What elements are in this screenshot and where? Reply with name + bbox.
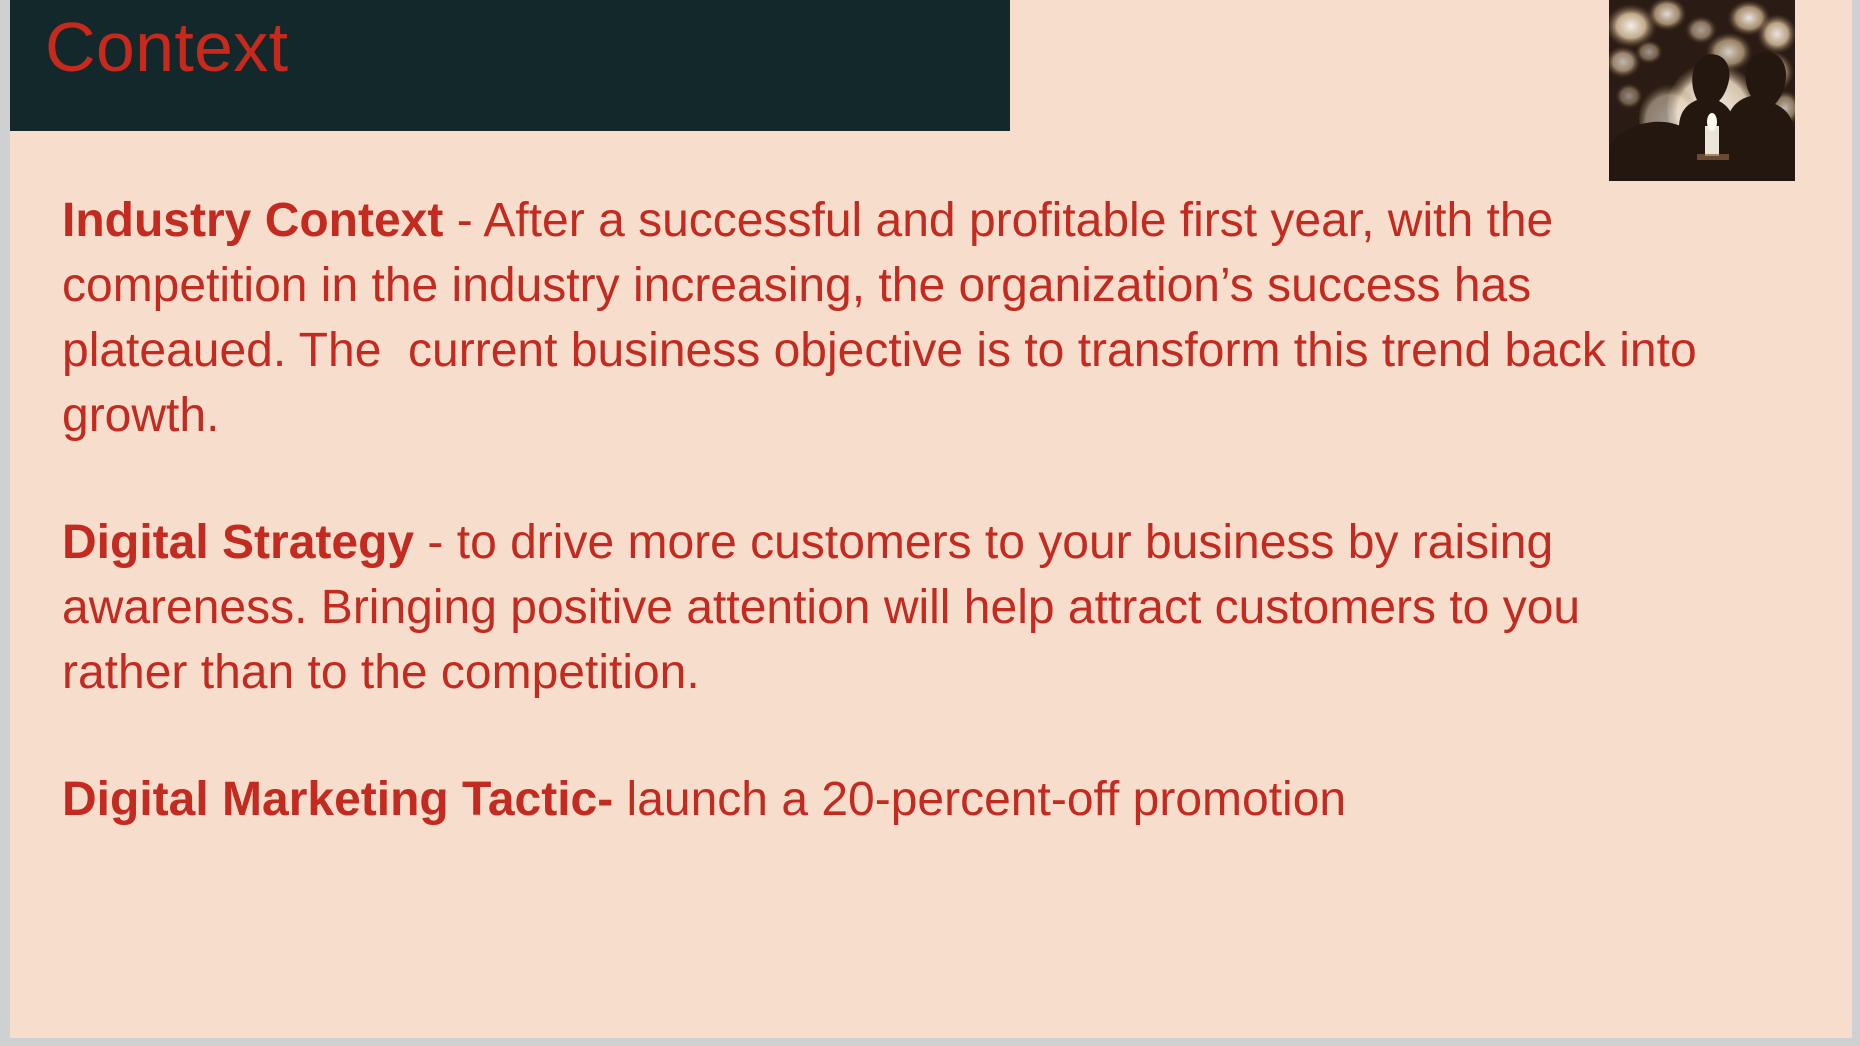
slide-title-bar: Context xyxy=(10,0,1010,131)
paragraph-lead-industry-context: Industry Context xyxy=(62,194,443,247)
paragraph-lead-digital-strategy: Digital Strategy xyxy=(62,516,414,569)
slide-body-content: Industry Context - After a successful an… xyxy=(62,188,1702,832)
paragraph-spacer xyxy=(62,448,1702,510)
paragraph-lead-digital-marketing-tactic: Digital Marketing Tactic- xyxy=(62,773,613,826)
paragraph-body-digital-marketing-tactic: launch a 20-percent-off promotion xyxy=(613,773,1346,826)
paragraph-spacer xyxy=(62,705,1702,767)
paragraph-industry-context: Industry Context - After a successful an… xyxy=(62,188,1702,448)
paragraph-digital-marketing-tactic: Digital Marketing Tactic- launch a 20-pe… xyxy=(62,767,1702,832)
couple-silhouette-photo xyxy=(1609,0,1795,181)
slide-canvas: Context xyxy=(10,0,1852,1038)
paragraph-digital-strategy: Digital Strategy - to drive more custome… xyxy=(62,510,1702,705)
page-title: Context xyxy=(45,12,288,82)
